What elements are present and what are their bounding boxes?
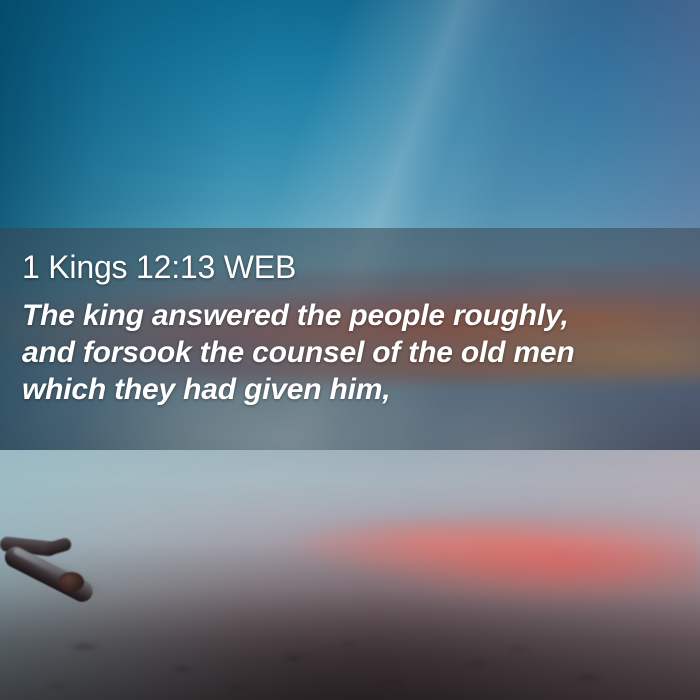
driftwood-stub [42, 537, 72, 557]
verse-text: The king answered the people roughly, an… [22, 297, 692, 408]
verse-reference: 1 Kings 12:13 WEB [22, 249, 296, 286]
verse-text-line: and forsook the counsel of the old men [22, 334, 692, 371]
verse-image: 1 Kings 12:13 WEB The king answered the … [0, 0, 700, 700]
verse-text-line: The king answered the people roughly, [22, 297, 692, 334]
driftwood-end-cap [58, 572, 84, 592]
driftwood-log [0, 520, 130, 610]
verse-text-line: which they had given him, [22, 371, 692, 408]
